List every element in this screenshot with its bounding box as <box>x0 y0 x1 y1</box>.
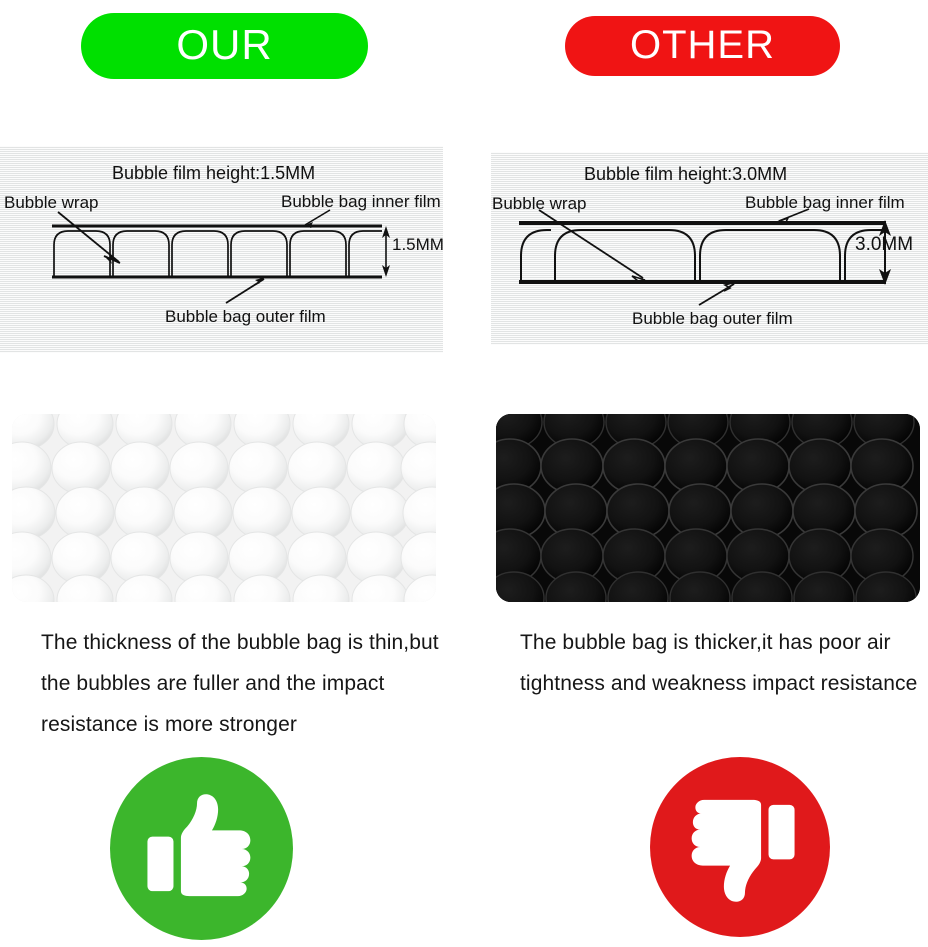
white-bubble-texture <box>12 414 436 602</box>
diagram-dimension-our: 1.5MM <box>392 236 443 253</box>
verdict-circle-our <box>110 757 293 940</box>
photo-bubble-wrap-white <box>12 414 436 602</box>
black-bubble-texture <box>496 414 920 602</box>
diagram-label-bubble-wrap-our: Bubble wrap <box>4 194 99 211</box>
badge-our: OUR <box>81 13 368 79</box>
caption-our: The thickness of the bubble bag is thin,… <box>41 622 453 745</box>
diagram-title-other: Bubble film height:3.0MM <box>584 165 787 183</box>
comparison-infographic: OUR OTHER <box>0 0 928 947</box>
thumbs-down-icon <box>678 785 802 909</box>
photo-bubble-wrap-black <box>496 414 920 602</box>
diagram-label-inner-film-other: Bubble bag inner film <box>745 194 905 211</box>
diagram-label-outer-film-our: Bubble bag outer film <box>165 308 326 325</box>
diagram-title-our: Bubble film height:1.5MM <box>112 164 315 182</box>
diagram-panel-our: Bubble film height:1.5MM Bubble wrap Bub… <box>0 146 443 353</box>
diagram-dimension-other: 3.0MM <box>855 235 913 254</box>
diagram-label-inner-film-our: Bubble bag inner film <box>281 193 441 210</box>
diagram-label-bubble-wrap-other: Bubble wrap <box>492 195 587 212</box>
diagram-panel-other: Bubble film height:3.0MM Bubble wrap Bub… <box>491 152 928 345</box>
verdict-circle-other <box>650 757 830 937</box>
badge-other: OTHER <box>565 16 840 76</box>
thumbs-up-icon <box>140 787 264 911</box>
diagram-label-outer-film-other: Bubble bag outer film <box>632 310 793 327</box>
caption-other: The bubble bag is thicker,it has poor ai… <box>520 622 924 704</box>
